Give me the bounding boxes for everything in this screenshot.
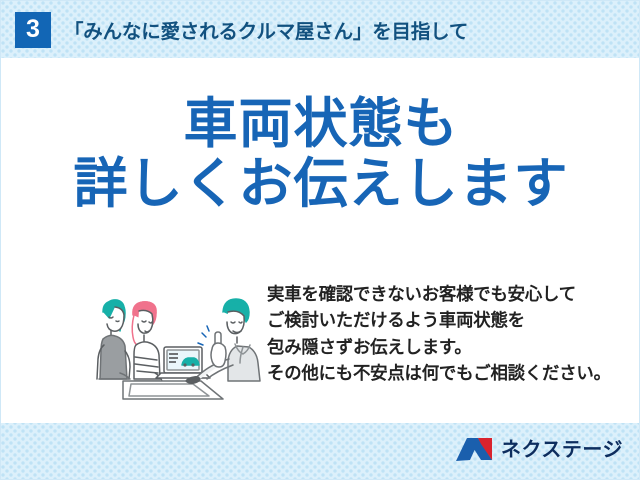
consultation-illustration (63, 285, 263, 410)
header-title: 「みんなに愛されるクルマ屋さん」を目指して (64, 15, 468, 44)
body-copy-line-2: ご検討いただけるよう車両状態を (267, 307, 640, 333)
body-copy-line-1: 実車を確認できないお客様でも安心して (267, 281, 640, 307)
brand-name: ネクステージ (501, 440, 623, 460)
header-band: 3 「みんなに愛されるクルマ屋さん」を目指して (1, 1, 640, 58)
content-panel: 車両状態も 詳しくお伝えします (1, 58, 640, 423)
headline: 車両状態も 詳しくお伝えします (1, 94, 640, 215)
footer-band: ネクステージ (1, 423, 640, 480)
headline-line-2: 詳しくお伝えします (1, 154, 640, 214)
headline-line-1: 車両状態も (1, 94, 640, 154)
brand-logo-lockup: ネクステージ (454, 436, 623, 463)
body-copy: 実車を確認できないお客様でも安心して ご検討いただけるよう車両状態を 包み隠さず… (267, 281, 640, 387)
step-number-badge: 3 (15, 12, 51, 48)
consultation-illustration-svg (63, 285, 263, 405)
body-copy-line-4: その他にも不安点は何でもご相談ください。 (267, 360, 640, 386)
content-row: 実車を確認できないお客様でも安心して ご検討いただけるよう車両状態を 包み隠さず… (1, 273, 640, 413)
body-copy-line-3: 包み隠さずお伝えします。 (267, 334, 640, 360)
advertisement-poster: 3 「みんなに愛されるクルマ屋さん」を目指して 車両状態も 詳しくお伝えします (0, 0, 640, 480)
nextage-n-mark-icon (454, 436, 494, 463)
